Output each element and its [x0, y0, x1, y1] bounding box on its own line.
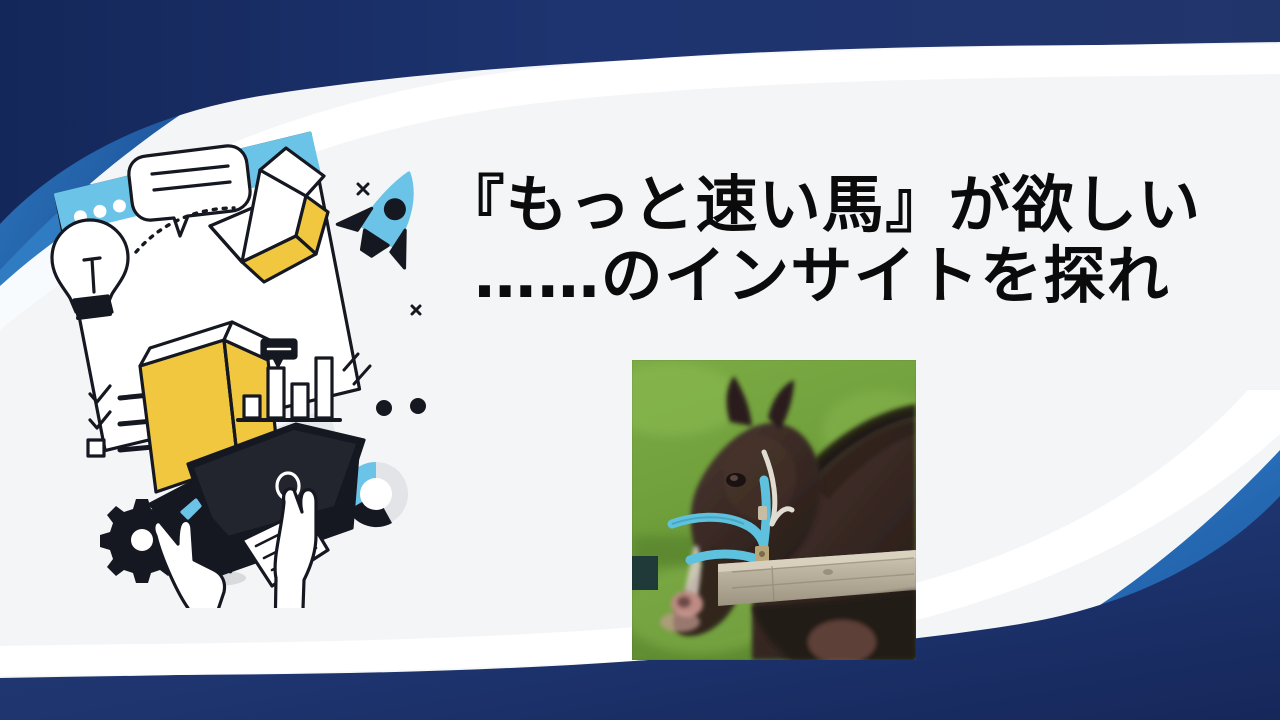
title-line-2: ……のインサイトを探れ [392, 243, 1252, 308]
accent-dots [376, 398, 426, 416]
slide-canvas: 『もっと速い馬』が欲しい ……のインサイトを探れ [0, 0, 1280, 720]
learning-illustration [28, 108, 428, 608]
horse-photo-image [632, 360, 916, 660]
horse-eye [726, 473, 746, 487]
horse-photo [632, 360, 916, 660]
slide-title: 『もっと速い馬』が欲しい ……のインサイトを探れ [392, 172, 1252, 308]
title-line-1: 『もっと速い馬』が欲しい [392, 172, 1252, 237]
